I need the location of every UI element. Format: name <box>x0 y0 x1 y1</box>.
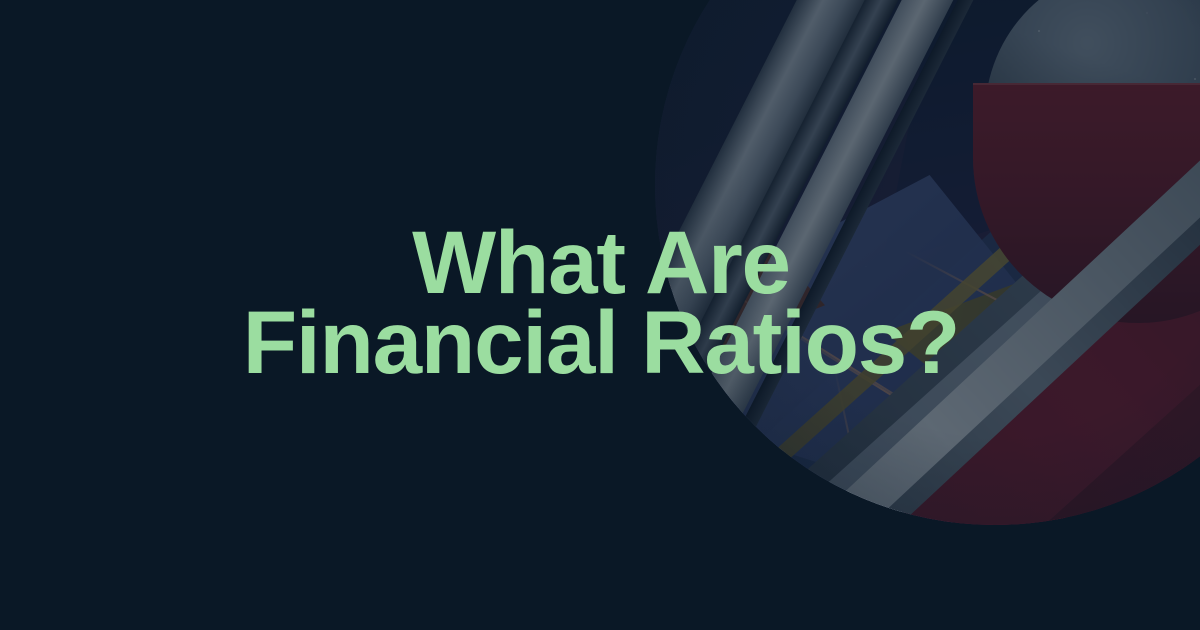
page-title-line-1: What Are <box>0 222 1200 302</box>
page-title-line-2: Financial Ratios? <box>0 302 1200 382</box>
page-title: What Are Financial Ratios? <box>0 222 1200 382</box>
social-card: What Are Financial Ratios? <box>0 0 1200 630</box>
